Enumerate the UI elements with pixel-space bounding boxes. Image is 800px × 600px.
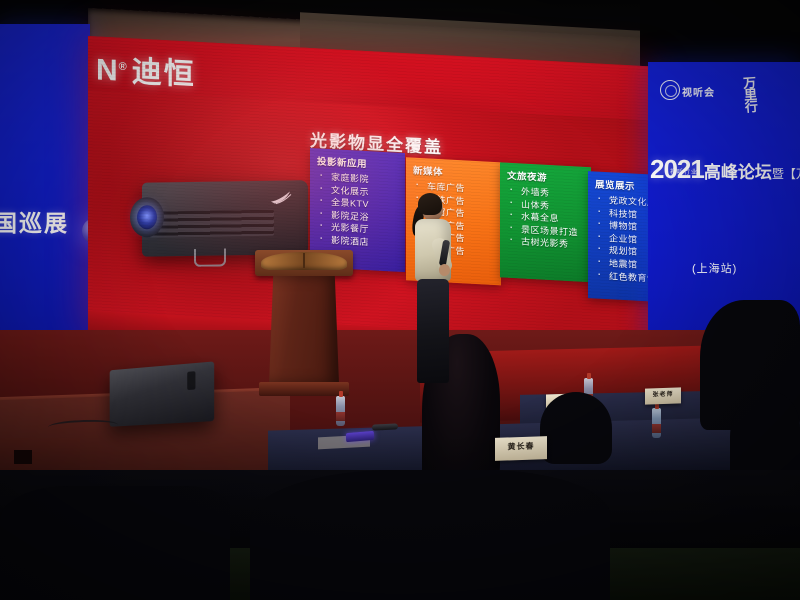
wing-logo-icon — [270, 190, 294, 204]
list-item: 红色教育馆 — [593, 269, 650, 286]
audience-silhouette — [730, 392, 800, 482]
water-bottle — [652, 408, 661, 438]
panel-title-exhibition: 展览展示 — [595, 176, 650, 195]
projector-vents — [150, 210, 274, 238]
projector-foot — [194, 248, 226, 267]
podium-base — [259, 382, 349, 396]
name-card-text: 张老师 — [645, 387, 681, 400]
banner-year: 2021 — [650, 154, 704, 184]
brand-logo-latin: N — [96, 53, 119, 87]
panel-list-tourism: 外墙秀 山体秀 水幕全息 景区场景打造 古树光影秀 — [505, 185, 587, 252]
slide-panel-exhibition: 展览展示 党政文化展示 科技馆 博物馆 企业馆 规划馆 地震馆 红色教育馆 — [588, 171, 650, 303]
association-name: 视听会 — [682, 84, 715, 99]
presenter-legs — [417, 279, 449, 383]
audience-silhouette-foreground — [0, 486, 230, 600]
slide-panel-tourism: 文旅夜游 外墙秀 山体秀 水幕全息 景区场景打造 古树光影秀 — [500, 162, 591, 282]
name-card-text: 黄长春 — [495, 436, 547, 454]
stage-monitor-speaker — [110, 361, 215, 426]
panel-title-tourism: 文旅夜游 — [507, 168, 587, 186]
banner-year-subtitle: 视听行业 — [670, 170, 698, 176]
podium-column — [269, 276, 339, 384]
banner-city-label: (上海站) — [692, 260, 737, 276]
panel-title-newmedia: 新媒体 — [413, 163, 497, 182]
left-banner-text: 国巡展 — [0, 204, 69, 238]
left-blue-banner: 国巡展 — [0, 24, 90, 354]
presenter-hair — [418, 193, 442, 215]
presenter-figure — [413, 196, 453, 386]
panel-title-projection: 投影新应用 — [317, 153, 401, 172]
water-bottle — [336, 396, 345, 426]
registered-mark-icon: ® — [119, 61, 128, 73]
panel-list-projection: 家庭影院 文化展示 全景KTV 影院足浴 光影餐厅 影院酒店 — [315, 170, 401, 250]
brand-logo: N®迪恒 — [96, 44, 196, 93]
panel-list-exhibition: 党政文化展示 科技馆 博物馆 企业馆 规划馆 地震馆 红色教育馆 — [593, 193, 650, 286]
name-card: 张老师 — [645, 387, 681, 404]
banner-subtitle: 暨【万里行】全国 — [772, 167, 800, 181]
audience-silhouette-foreground — [250, 470, 610, 600]
podium-open-book-ornament — [261, 252, 347, 270]
presenter-hand — [439, 264, 450, 276]
brand-logo-chinese: 迪恒 — [132, 55, 196, 91]
audience-silhouette — [540, 392, 612, 464]
association-seal-icon — [660, 80, 680, 100]
brush-calligraphy-mark: 万里行 — [743, 76, 756, 113]
conference-hall-photo: 国巡展 N®迪恒 光影物显全覆盖 投影新应用 家庭影院 — [0, 0, 800, 600]
banner-forum-title: 高峰论坛 — [704, 163, 772, 182]
wooden-podium — [255, 250, 353, 400]
name-card-primary: 黄长春 — [495, 436, 547, 461]
banner-headline: 2021视听行业高峰论坛暨【万里行】全国 — [650, 154, 800, 185]
